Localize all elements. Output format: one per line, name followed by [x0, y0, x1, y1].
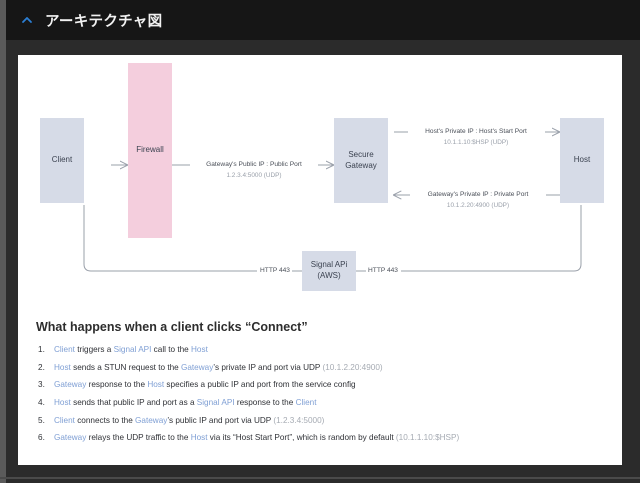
entity-ref: Signal API: [197, 398, 235, 407]
step-text: response to the: [235, 398, 296, 407]
node-signal-api-label-line2: (AWS): [317, 271, 340, 280]
node-secure-gateway-label: Secure Gateway: [345, 150, 377, 172]
address-hint: (10.1.2.20:4900): [323, 363, 383, 372]
step-text: specifies a public IP and port from the …: [164, 380, 355, 389]
entity-ref: Signal API: [114, 345, 152, 354]
node-signal-api[interactable]: Signal APi (AWS): [302, 251, 356, 291]
explainer-step: Client connects to the Gateway’s public …: [36, 415, 608, 426]
node-firewall-label: Firewall: [136, 145, 164, 156]
explainer-step: Client triggers a Signal API call to the…: [36, 344, 608, 355]
node-secure-gateway-label-line1: Secure: [348, 150, 373, 159]
step-text: response to the: [86, 380, 147, 389]
node-client[interactable]: Client: [40, 118, 84, 203]
architecture-diagram: Client Firewall Secure Gateway Host Sign…: [18, 55, 622, 310]
node-host[interactable]: Host: [560, 118, 604, 203]
edge-sub-host-to-gateway: 10.1.2.20:4900 (UDP): [408, 202, 548, 209]
content-card: Client Firewall Secure Gateway Host Sign…: [18, 55, 622, 465]
node-signal-api-label: Signal APi (AWS): [311, 260, 347, 282]
explainer-step-list: Client triggers a Signal API call to the…: [36, 344, 608, 443]
step-text: sends a STUN request to the: [71, 363, 181, 372]
edge-sub-gateway-to-host: 10.1.1.10:$HSP (UDP): [406, 139, 546, 146]
entity-ref: Host: [54, 398, 71, 407]
entity-ref: Gateway: [181, 363, 213, 372]
entity-ref: Host: [191, 345, 208, 354]
panel-header: アーキテクチャ図: [6, 0, 640, 40]
step-text: via its “Host Start Port”, which is rand…: [208, 433, 396, 442]
step-text: connects to the: [75, 416, 135, 425]
node-firewall[interactable]: Firewall: [128, 63, 172, 238]
step-text: relays the UDP traffic to the: [86, 433, 190, 442]
explainer-step: Gateway relays the UDP traffic to the Ho…: [36, 432, 608, 443]
node-host-label: Host: [574, 155, 590, 166]
panel-title: アーキテクチャ図: [45, 10, 162, 31]
entity-ref: Gateway: [54, 433, 86, 442]
node-client-label: Client: [52, 155, 72, 166]
explainer-section: What happens when a client clicks “Conne…: [36, 320, 608, 450]
explainer-step: Host sends that public IP and port as a …: [36, 397, 608, 408]
chevron-up-icon[interactable]: [18, 11, 36, 29]
entity-ref: Client: [54, 416, 75, 425]
edge-label-firewall-to-gateway: Gateway's Public IP : Public Port: [190, 161, 318, 168]
step-text: call to the: [151, 345, 191, 354]
explainer-step: Gateway response to the Host specifies a…: [36, 379, 608, 390]
step-text: ’s public IP and port via UDP: [167, 416, 273, 425]
explainer-heading: What happens when a client clicks “Conne…: [36, 320, 608, 334]
entity-ref: Host: [54, 363, 71, 372]
edge-label-signal-to-host: HTTP 443: [365, 267, 401, 274]
edge-label-host-to-gateway: Gateway's Private IP : Private Port: [408, 191, 548, 198]
node-signal-api-label-line1: Signal APi: [311, 260, 347, 269]
entity-ref: Client: [54, 345, 75, 354]
step-text: ’s private IP and port via UDP: [213, 363, 322, 372]
address-hint: (1.2.3.4:5000): [273, 416, 324, 425]
edge-sub-firewall-to-gateway: 1.2.3.4:5000 (UDP): [190, 172, 318, 179]
node-secure-gateway[interactable]: Secure Gateway: [334, 118, 388, 203]
entity-ref: Client: [296, 398, 317, 407]
edge-label-gateway-to-host: Host's Private IP : Host's Start Port: [406, 128, 546, 135]
bottom-divider: [0, 477, 640, 479]
entity-ref: Gateway: [135, 416, 167, 425]
step-text: sends that public IP and port as a: [71, 398, 197, 407]
entity-ref: Host: [191, 433, 208, 442]
node-secure-gateway-label-line2: Gateway: [345, 161, 377, 170]
step-text: triggers a: [75, 345, 114, 354]
address-hint: (10.1.1.10:$HSP): [396, 433, 459, 442]
explainer-step: Host sends a STUN request to the Gateway…: [36, 362, 608, 373]
edge-label-client-to-signal: HTTP 443: [257, 267, 293, 274]
entity-ref: Gateway: [54, 380, 86, 389]
entity-ref: Host: [147, 380, 164, 389]
